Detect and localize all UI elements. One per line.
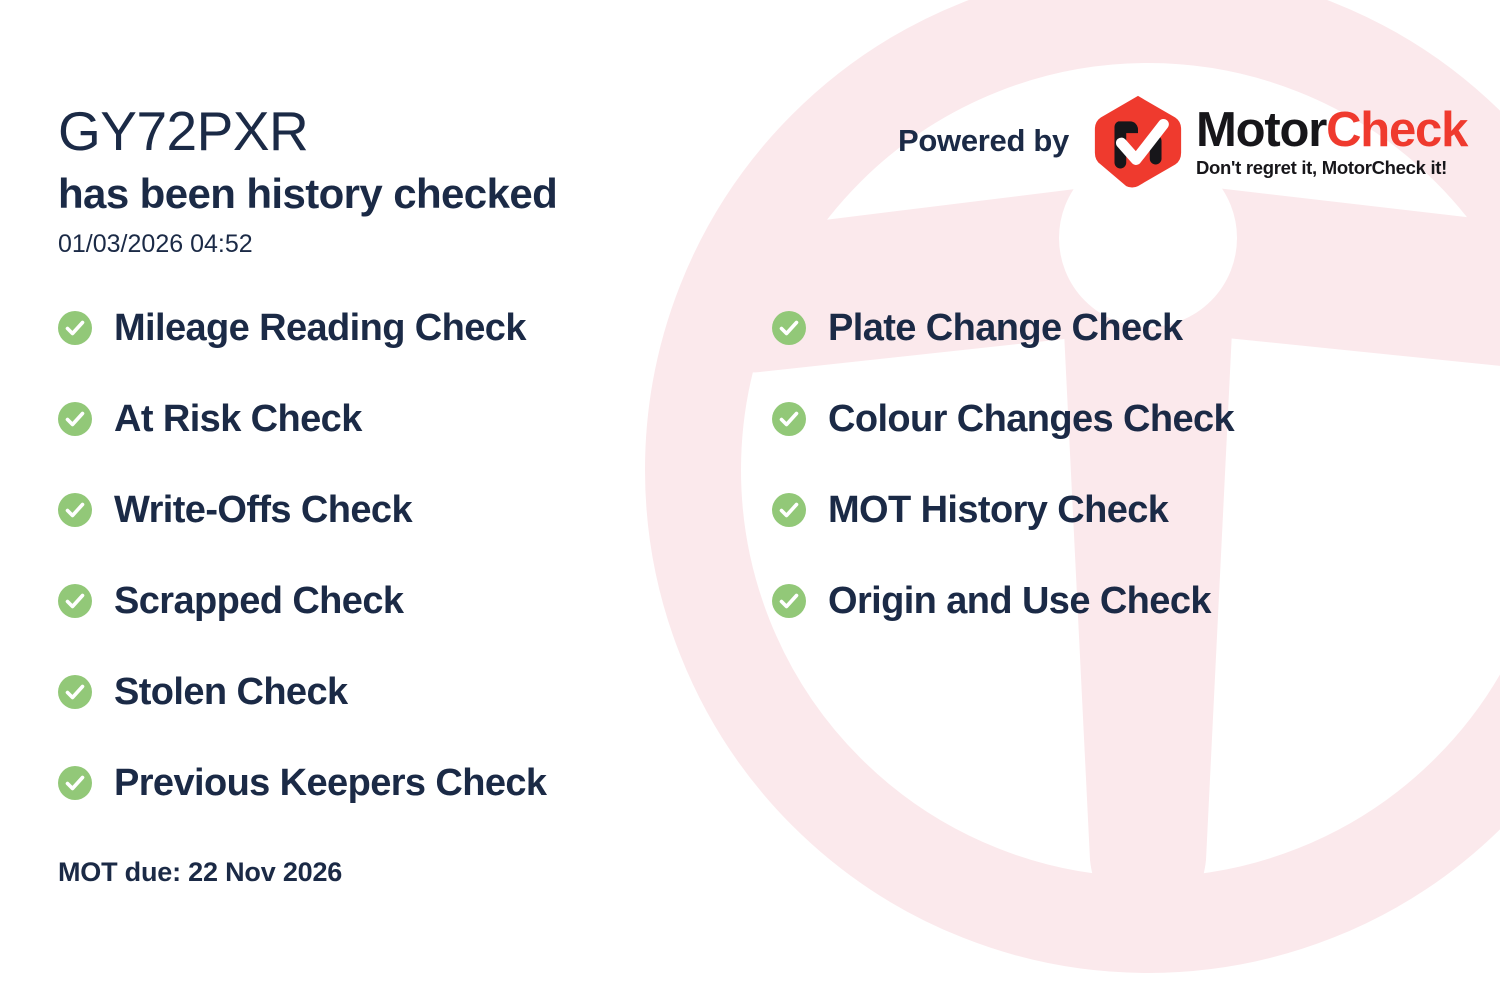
check-label: MOT History Check bbox=[828, 487, 1168, 533]
motorcheck-hexagon-icon bbox=[1089, 92, 1187, 190]
wordmark-motor: Motor bbox=[1196, 103, 1326, 157]
check-label: Previous Keepers Check bbox=[114, 760, 546, 806]
history-check-banner: GY72PXR has been history checked 01/03/2… bbox=[0, 0, 1500, 1000]
history-checked-heading: has been history checked bbox=[58, 168, 557, 220]
list-item: At Risk Check bbox=[58, 396, 758, 442]
check-label: Colour Changes Check bbox=[828, 396, 1234, 442]
list-item: Previous Keepers Check bbox=[58, 760, 758, 806]
check-label: Scrapped Check bbox=[114, 578, 403, 624]
check-circle-icon bbox=[772, 584, 806, 618]
check-label: Write-Offs Check bbox=[114, 487, 412, 533]
check-circle-icon bbox=[772, 493, 806, 527]
list-item: Origin and Use Check bbox=[772, 578, 1412, 624]
mot-due-label: MOT due: 22 Nov 2026 bbox=[58, 855, 342, 889]
motorcheck-wordmark: MotorCheck bbox=[1196, 105, 1467, 155]
check-circle-icon bbox=[58, 584, 92, 618]
check-circle-icon bbox=[58, 311, 92, 345]
powered-by-label: Powered by bbox=[898, 121, 1069, 161]
check-label: Origin and Use Check bbox=[828, 578, 1211, 624]
check-circle-icon bbox=[58, 766, 92, 800]
list-item: Plate Change Check bbox=[772, 305, 1412, 351]
wordmark-check: Check bbox=[1326, 103, 1467, 157]
motorcheck-logo: MotorCheck Don't regret it, MotorCheck i… bbox=[1089, 92, 1467, 190]
list-item: Mileage Reading Check bbox=[58, 305, 758, 351]
motorcheck-tagline: Don't regret it, MotorCheck it! bbox=[1196, 157, 1467, 179]
check-circle-icon bbox=[58, 493, 92, 527]
check-circle-icon bbox=[772, 311, 806, 345]
checklist-left-column: Mileage Reading Check At Risk Check Writ… bbox=[58, 305, 758, 851]
check-circle-icon bbox=[58, 675, 92, 709]
powered-by-block: Powered by MotorCheck Don't regret it, M… bbox=[898, 92, 1467, 190]
list-item: Stolen Check bbox=[58, 669, 758, 715]
check-timestamp: 01/03/2026 04:52 bbox=[58, 228, 253, 260]
check-label: At Risk Check bbox=[114, 396, 362, 442]
list-item: Scrapped Check bbox=[58, 578, 758, 624]
registration-plate: GY72PXR bbox=[58, 101, 308, 161]
check-label: Mileage Reading Check bbox=[114, 305, 526, 351]
check-label: Stolen Check bbox=[114, 669, 348, 715]
check-label: Plate Change Check bbox=[828, 305, 1183, 351]
list-item: MOT History Check bbox=[772, 487, 1412, 533]
list-item: Colour Changes Check bbox=[772, 396, 1412, 442]
checklist-right-column: Plate Change Check Colour Changes Check … bbox=[772, 305, 1412, 669]
check-circle-icon bbox=[58, 402, 92, 436]
check-circle-icon bbox=[772, 402, 806, 436]
list-item: Write-Offs Check bbox=[58, 487, 758, 533]
